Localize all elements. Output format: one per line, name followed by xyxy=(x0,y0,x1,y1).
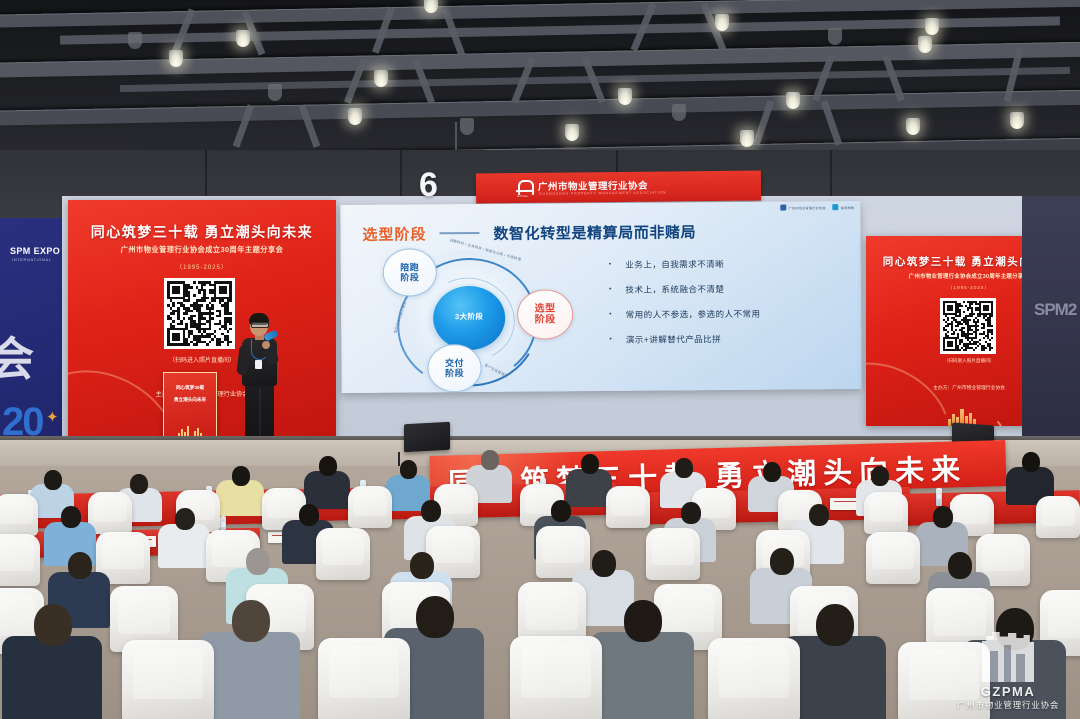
wall-chinese-glyph: 会 xyxy=(0,323,34,389)
gzpma-arch-icon-label: GZPMA xyxy=(517,195,528,198)
audience-chair xyxy=(646,528,700,580)
bullet-text: 常用的人不参选，参选的人不常用 xyxy=(626,308,761,321)
node-label-line1: 交付 xyxy=(445,358,464,368)
audience-chair xyxy=(348,486,392,528)
bullet-text: 技术上，系统融合不清楚 xyxy=(625,283,724,296)
node-label-line2: 阶段 xyxy=(535,314,556,325)
audience-chair xyxy=(864,492,908,534)
node-label-line1: 陪跑 xyxy=(400,262,419,272)
right-wall-expo-text: SPM2 xyxy=(1034,300,1080,326)
gzpma-watermark: GZPMA 广州市物业管理行业协会 xyxy=(948,632,1068,711)
speaker-hand xyxy=(262,341,270,349)
audience-chair xyxy=(510,636,602,719)
partner-mini-logo-text: 智电物联 xyxy=(841,205,855,210)
gzpma-watermark-en: GZPMA xyxy=(948,684,1068,699)
list-item: • 演示+讲解替代产品比拼 xyxy=(609,333,760,346)
association-header-banner: GZPMA 广州市物业管理行业协会 GUANGZHOU PROPERTY MAN… xyxy=(476,171,761,204)
audience-chair xyxy=(708,638,800,719)
bullet-text: 业务上，自我需求不清晰 xyxy=(625,258,724,271)
ceiling-structure xyxy=(0,0,1080,172)
diagram-node-peipao: 陪跑 阶段 xyxy=(383,248,437,296)
stage-speaker-monitor xyxy=(404,422,450,452)
ceiling-lamp xyxy=(268,84,282,101)
slide-corner-logos: 广州市物业管理行业协会 智电物联 xyxy=(780,204,854,211)
list-item: • 常用的人不参选，参选的人不常用 xyxy=(609,308,760,321)
association-name-en: GUANGZHOU PROPERTY MANAGEMENT ASSOCIATIO… xyxy=(539,190,666,195)
ceiling-lamp xyxy=(828,28,842,45)
audience-chair xyxy=(0,494,38,536)
three-stage-ring-diagram: 3大阶段 陪跑 阶段 交付 阶段 选型 阶段 战略规划 / 业务现状 / 数智化… xyxy=(377,247,560,388)
ceiling-lamp xyxy=(906,118,920,135)
gzpma-mini-logo-icon: 广州市物业管理行业协会 xyxy=(780,204,825,210)
ceiling-lamp xyxy=(925,18,939,35)
diagram-node-xuanxing: 选型 阶段 xyxy=(517,289,573,339)
event-title: 同心筑梦三十载 勇立潮头向未来 xyxy=(68,222,336,242)
speaker-badge xyxy=(255,360,262,369)
event-qr-code[interactable] xyxy=(164,278,235,349)
audience-chair xyxy=(122,640,214,719)
gzpma-watermark-cn: 广州市物业管理行业协会 xyxy=(948,699,1068,711)
glasses-icon xyxy=(251,322,269,328)
gzpma-building-icon xyxy=(982,632,1034,682)
podium-banner-line2: 勇立潮头向未来 xyxy=(164,397,216,404)
diagram-center-label: 3大阶段 xyxy=(433,311,505,323)
audience-chair xyxy=(316,528,370,580)
bullet-dot-icon: • xyxy=(609,334,612,346)
slide-page-number: 6 xyxy=(419,166,437,205)
ceiling-lamp xyxy=(740,130,754,147)
event-subtitle: 广州市物业管理行业协会成立30周年主题分享会 xyxy=(68,245,336,255)
slide-title-main: 数智化转型是精算局而非赌局 xyxy=(493,224,696,243)
audience-chair xyxy=(426,526,480,578)
ceiling-lamp xyxy=(715,14,729,31)
ceiling-lamp xyxy=(1010,112,1024,129)
audience-chair xyxy=(1036,496,1080,538)
spm-expo-logo: SPM EXPO xyxy=(10,246,60,256)
slide-bullet-list: • 业务上，自我需求不清晰 • 技术上，系统融合不清楚 • 常用的人不参选，参选… xyxy=(609,258,761,359)
gzpma-mini-logo-text: 广州市物业管理行业协会 xyxy=(788,205,825,210)
speaker-legs xyxy=(245,384,274,442)
audience-chair xyxy=(606,486,650,528)
slide-title: 选型阶段 数智化转型是精算局而非赌局 xyxy=(362,221,696,245)
star-icon: ✦ xyxy=(46,408,59,426)
ceiling-lamp xyxy=(618,88,632,105)
ceiling-lamp xyxy=(236,30,250,47)
list-item: • 业务上，自我需求不清晰 xyxy=(609,258,760,271)
audience-chair xyxy=(318,638,410,719)
ceiling-lamp xyxy=(348,108,362,125)
partner-mini-logo-icon: 智电物联 xyxy=(833,204,855,210)
slide-title-highlight: 选型阶段 xyxy=(362,226,426,244)
node-label-line1: 选型 xyxy=(535,303,556,314)
diagram-node-jiaofu: 交付 阶段 xyxy=(427,344,481,392)
ceiling-lamp xyxy=(672,104,686,121)
ceiling-lamp xyxy=(918,36,932,53)
node-label-line2: 阶段 xyxy=(400,272,419,282)
event-qr-code[interactable] xyxy=(940,298,996,354)
bullet-text: 演示+讲解替代产品比拼 xyxy=(626,333,721,346)
diagram-center-circle: 3大阶段 xyxy=(433,286,506,351)
ceiling-lamp xyxy=(169,50,183,67)
spm-expo-sublabel: INTERNATIONAL xyxy=(12,257,52,262)
presentation-slide: 广州市物业管理行业协会 智电物联 选型阶段 数智化转型是精算局而非赌局 3大阶段… xyxy=(340,201,861,393)
podium-banner-line1: 同心筑梦30载 xyxy=(164,385,216,392)
speaker-presenter xyxy=(232,315,288,443)
bullet-dot-icon: • xyxy=(609,284,612,296)
audience-chair xyxy=(0,534,40,586)
event-years: （1995-2025） xyxy=(68,262,336,271)
ceiling-lamp xyxy=(786,92,800,109)
list-item: • 技术上，系统融合不清楚 xyxy=(609,283,760,296)
ceiling-lamp xyxy=(565,124,579,141)
bullet-dot-icon: • xyxy=(609,309,612,321)
node-label-line2: 阶段 xyxy=(445,368,464,378)
ceiling-lamp xyxy=(374,70,388,87)
conference-photo-scene: SPM EXPO INTERNATIONAL 会 20 ✦ 25 6 GZPMA… xyxy=(0,0,1080,719)
water-bottle xyxy=(936,488,942,506)
audience-chair xyxy=(866,532,920,584)
lamp-rod xyxy=(455,122,457,150)
ceiling-lamp xyxy=(460,118,474,135)
podium-banner: 同心筑梦30载 勇立潮头向未来 xyxy=(163,372,217,446)
bullet-dot-icon: • xyxy=(609,259,612,271)
gzpma-arch-icon: GZPMA xyxy=(516,177,532,194)
slide-title-dash xyxy=(440,232,480,234)
ceiling-lamp xyxy=(128,32,142,49)
